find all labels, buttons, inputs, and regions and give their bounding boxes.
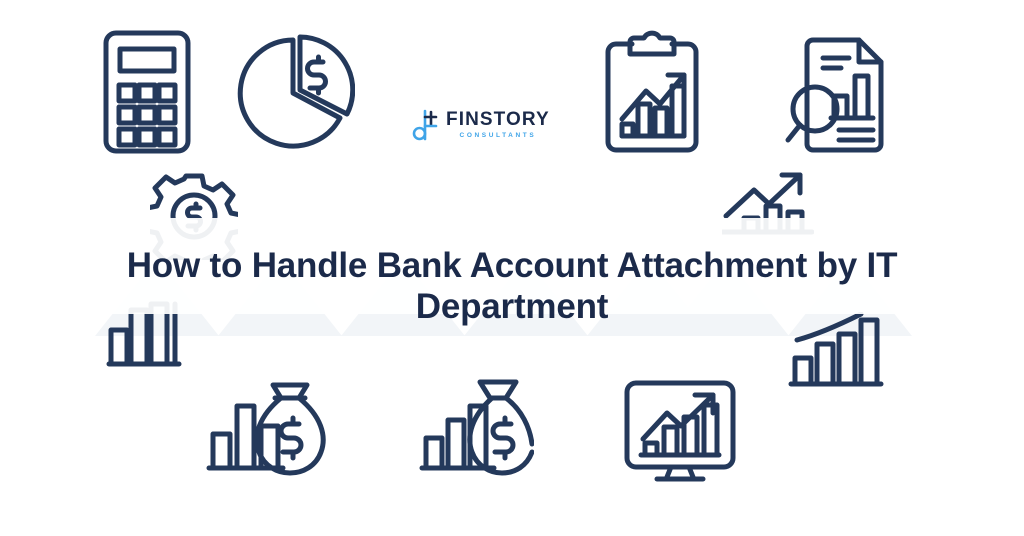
clipboard-bar-chart-icon: [600, 30, 704, 158]
money-bag-ascending-icon: [418, 372, 534, 480]
logo-name: FINSTORY: [446, 110, 550, 130]
logo-wordmark: FINSTORY CONSULTANTS: [446, 110, 550, 141]
pie-chart-dollar-icon: [237, 32, 355, 154]
finstory-logo: FINSTORY CONSULTANTS: [412, 96, 542, 154]
logo-tagline: CONSULTANTS: [446, 130, 550, 141]
document-chart-search-icon: [783, 30, 895, 156]
finstory-bar-mark: [412, 108, 439, 142]
page-title: How to Handle Bank Account Attachment by…: [0, 245, 1024, 327]
money-bag-chart-icon: [203, 372, 327, 480]
banner-canvas: FINSTORY CONSULTANTS How to Handle Bank …: [0, 0, 1024, 536]
calculator-icon: [98, 27, 196, 157]
monitor-chart-icon: [619, 377, 741, 487]
